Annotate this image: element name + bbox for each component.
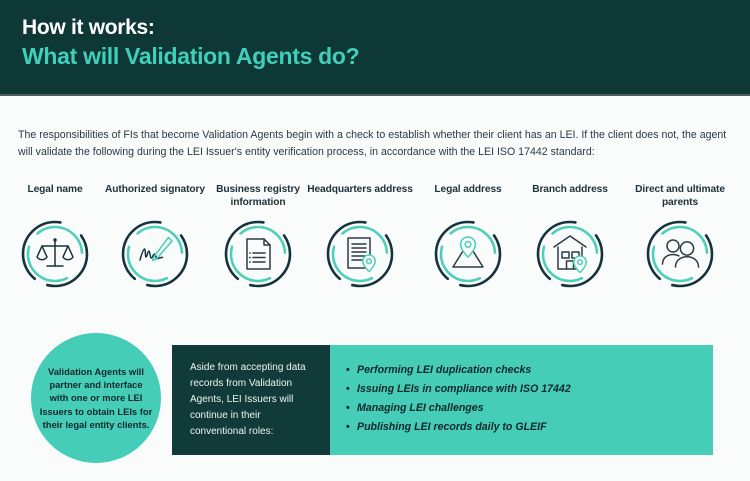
header-banner: How it works: What will Validation Agent… <box>0 0 750 96</box>
validation-item-headquarters-address: Headquarters address <box>301 184 419 289</box>
validation-item-legal-address: Legal address <box>409 184 527 289</box>
page-title: What will Validation Agents do? <box>22 42 750 71</box>
item-label: Business registry information <box>199 184 317 212</box>
header-eyebrow: How it works: <box>22 14 750 41</box>
two-people-icon <box>645 219 715 289</box>
list-item: Issuing LEIs in compliance with ISO 1744… <box>346 380 713 399</box>
item-label: Legal address <box>409 184 527 212</box>
validation-agents-bubble: Validation Agents will partner and inter… <box>31 333 161 463</box>
validation-item-authorized-signatory: Authorized signatory <box>96 184 214 289</box>
item-label: Direct and ultimate parents <box>621 184 739 212</box>
dark-box-text: Aside from accepting data records from V… <box>172 360 330 440</box>
validation-items-row: Legal name Authorized signatory <box>0 184 750 309</box>
list-item: Performing LEI duplication checks <box>346 361 713 380</box>
document-icon <box>223 219 293 289</box>
building-location-pin-icon <box>535 219 605 289</box>
scales-of-justice-icon <box>20 219 90 289</box>
list-item: Publishing LEI records daily to GLEIF <box>346 418 713 437</box>
bubble-text: Validation Agents will partner and inter… <box>31 365 161 431</box>
lei-issuers-intro-box: Aside from accepting data records from V… <box>172 345 330 455</box>
document-location-pin-icon <box>325 219 395 289</box>
validation-item-business-registry: Business registry information <box>199 184 317 289</box>
item-label: Headquarters address <box>301 184 419 212</box>
item-label: Branch address <box>511 184 629 212</box>
map-location-pin-icon <box>433 219 503 289</box>
validation-item-direct-ultimate-parents: Direct and ultimate parents <box>621 184 739 289</box>
item-label: Authorized signatory <box>96 184 214 212</box>
list-item: Managing LEI challenges <box>346 399 713 418</box>
validation-item-branch-address: Branch address <box>511 184 629 289</box>
lei-issuers-roles-panel: Performing LEI duplication checks Issuin… <box>330 345 713 455</box>
signature-pen-icon <box>120 219 190 289</box>
intro-paragraph: The responsibilities of FIs that become … <box>18 127 732 161</box>
roles-list: Performing LEI duplication checks Issuin… <box>346 361 713 437</box>
